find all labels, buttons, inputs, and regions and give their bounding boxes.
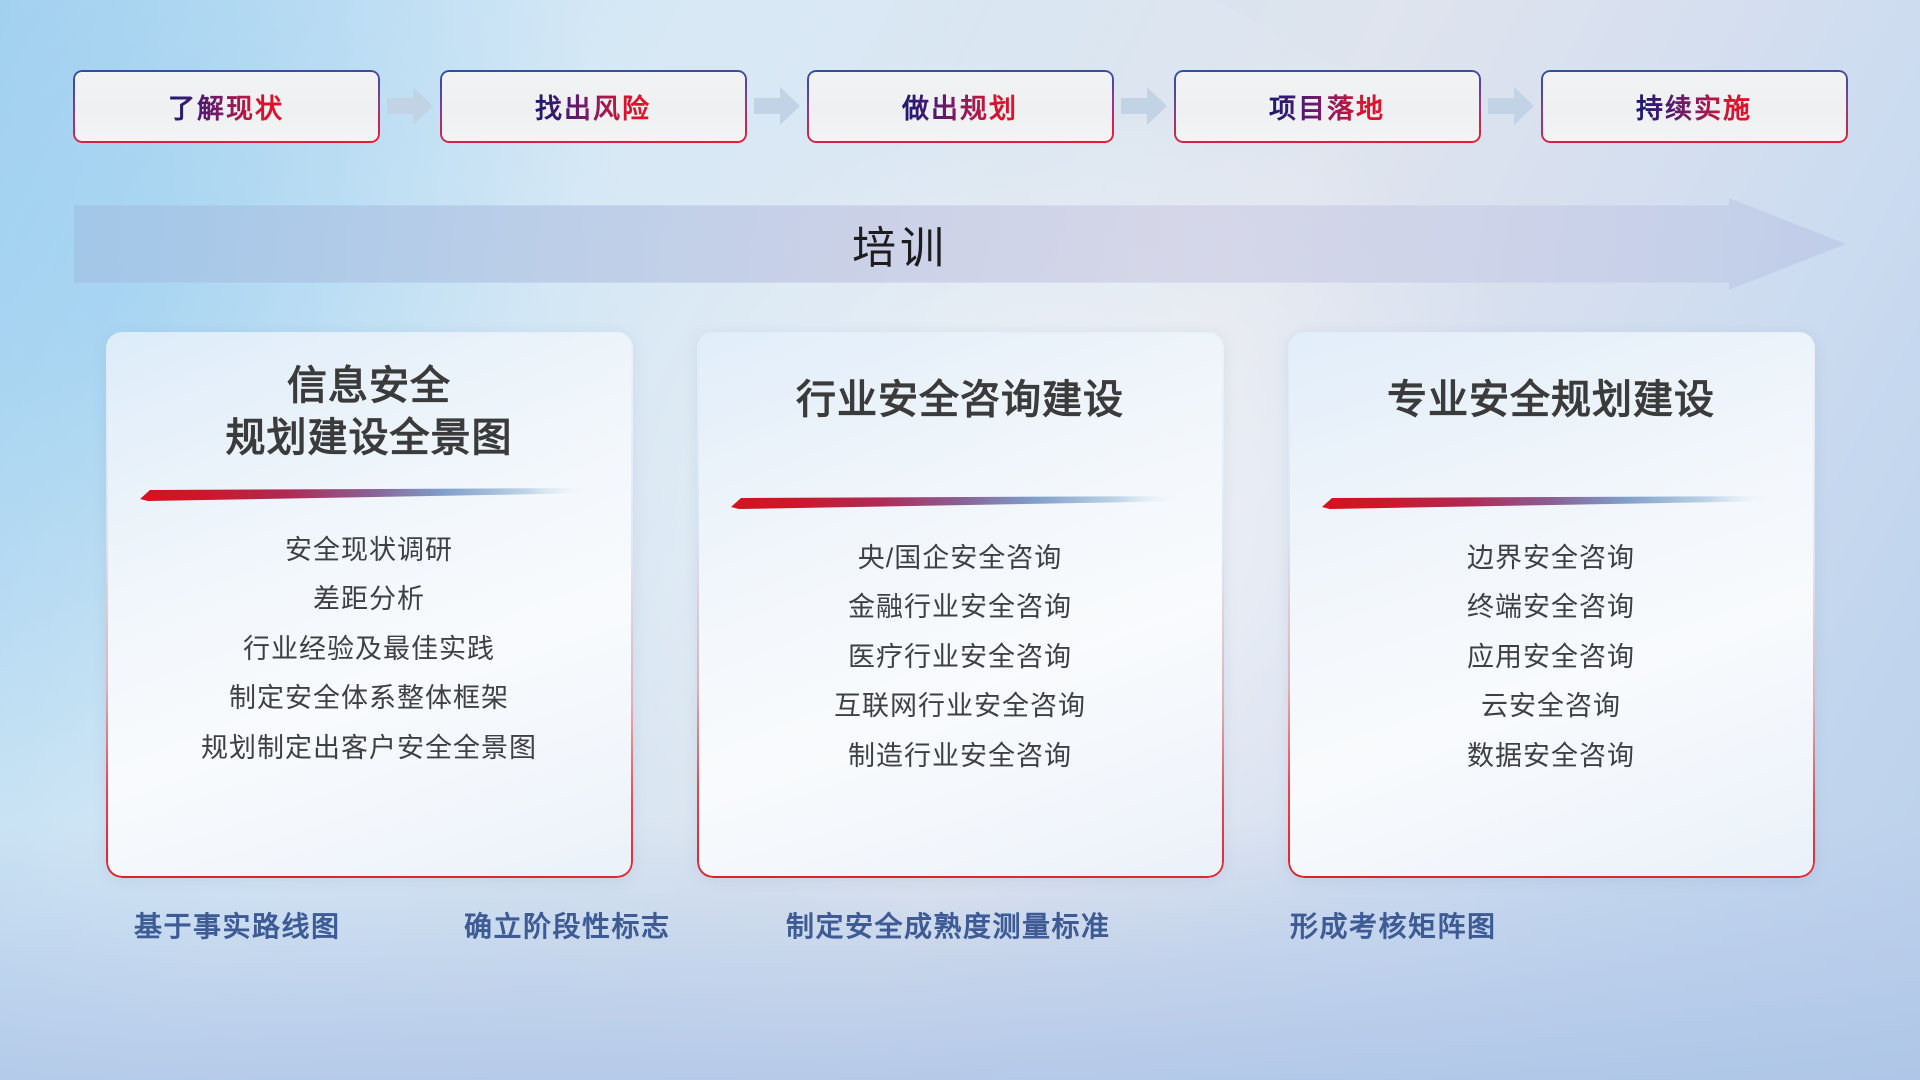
card-title: 行业安全咨询建设: [796, 360, 1124, 426]
right-arrow-icon: [1114, 85, 1174, 127]
list-item: 互联网行业安全咨询: [834, 690, 1086, 722]
step-button-3[interactable]: 项目落地: [1174, 70, 1481, 143]
card-list: 安全现状调研 差距分析 行业经验及最佳实践 制定安全体系整体框架 规划制定出客户…: [140, 534, 599, 764]
card-1[interactable]: 行业安全咨询建设: [697, 332, 1224, 878]
card-divider: [1322, 494, 1781, 510]
card-divider: [140, 486, 599, 502]
step-button-2[interactable]: 做出规划: [807, 70, 1114, 143]
step-label: 了解现状: [168, 87, 284, 126]
right-arrow-icon: [1481, 85, 1541, 127]
list-item: 制定安全体系整体框架: [229, 682, 509, 714]
list-item: 央/国企安全咨询: [858, 542, 1063, 574]
caption-1: 确立阶段性标志: [464, 905, 671, 945]
card-row: 信息安全 规划建设全景图: [0, 332, 1920, 880]
step-button-4[interactable]: 持续实施: [1541, 70, 1848, 143]
step-label: 持续实施: [1636, 87, 1752, 126]
card-0[interactable]: 信息安全 规划建设全景图: [106, 332, 633, 878]
step-label: 找出风险: [535, 87, 651, 126]
caption-0: 基于事实路线图: [134, 905, 341, 945]
caption-3: 形成考核矩阵图: [1290, 905, 1497, 945]
list-item: 医疗行业安全咨询: [848, 641, 1072, 673]
list-item: 数据安全咨询: [1467, 740, 1635, 772]
card-divider: [731, 494, 1190, 510]
list-item: 差距分析: [313, 583, 425, 615]
step-button-0[interactable]: 了解现状: [73, 70, 380, 143]
caption-2: 制定安全成熟度测量标准: [786, 905, 1111, 945]
card-list: 央/国企安全咨询 金融行业安全咨询 医疗行业安全咨询 互联网行业安全咨询 制造行…: [731, 542, 1190, 772]
card-2[interactable]: 专业安全规划建设: [1288, 332, 1815, 878]
training-banner: 培训: [74, 198, 1846, 290]
list-item: 金融行业安全咨询: [848, 591, 1072, 623]
step-label: 做出规划: [902, 87, 1018, 126]
list-item: 应用安全咨询: [1467, 641, 1635, 673]
right-arrow-icon: [380, 85, 440, 127]
list-item: 规划制定出客户安全全景图: [201, 732, 537, 764]
list-item: 边界安全咨询: [1467, 542, 1635, 574]
list-item: 终端安全咨询: [1467, 591, 1635, 623]
right-arrow-icon: [747, 85, 807, 127]
process-steps: 了解现状 找出风险 做出规划 项目落地 持续实施: [0, 68, 1920, 144]
step-button-1[interactable]: 找出风险: [440, 70, 747, 143]
list-item: 制造行业安全咨询: [848, 740, 1072, 772]
caption-row: 基于事实路线图 确立阶段性标志 制定安全成熟度测量标准 形成考核矩阵图: [0, 905, 1920, 965]
list-item: 安全现状调研: [285, 534, 453, 566]
card-title: 专业安全规划建设: [1387, 360, 1715, 426]
list-item: 云安全咨询: [1481, 690, 1621, 722]
banner-title: 培训: [74, 198, 1846, 290]
card-list: 边界安全咨询 终端安全咨询 应用安全咨询 云安全咨询 数据安全咨询: [1322, 542, 1781, 772]
card-title: 信息安全 规划建设全景图: [226, 360, 513, 464]
step-label: 项目落地: [1269, 87, 1385, 126]
list-item: 行业经验及最佳实践: [243, 633, 495, 665]
